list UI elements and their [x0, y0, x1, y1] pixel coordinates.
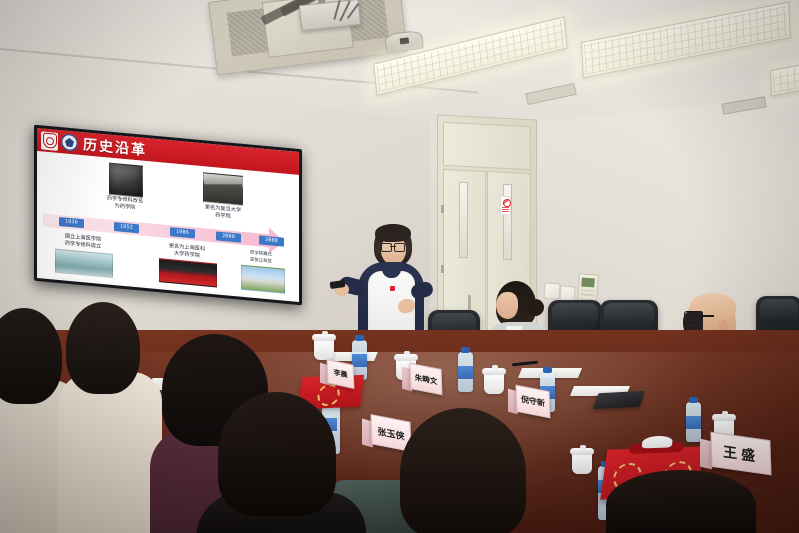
presenter-fringe	[375, 224, 411, 242]
attendee-hair	[606, 470, 756, 533]
door-transom	[443, 122, 531, 170]
milestone-photo	[241, 265, 285, 294]
door-hinge	[441, 205, 444, 213]
milestone-text: 更名为复旦大学 药学院	[187, 203, 259, 224]
glasses-icon	[684, 311, 714, 321]
attendee-body	[58, 372, 162, 533]
slide-body: 药学专修科改名 为药学院 更名为复旦大学 药学院 1936 1952 1986 …	[37, 151, 299, 299]
no-smoking-sign-icon	[500, 196, 511, 216]
attendee-hair-bun	[527, 299, 544, 316]
milestone-text: 药学专修科改名 为药学院	[89, 194, 161, 215]
milestone-photo	[203, 172, 243, 206]
mug[interactable]	[314, 338, 334, 360]
water-bottle[interactable]	[352, 340, 367, 380]
water-bottle[interactable]	[686, 402, 701, 442]
attendee-face	[496, 292, 518, 319]
conference-room-screenshot: 历史沿革 药学专修科改名 为药学院 更名为复旦大学 药学院 1936 1952 …	[0, 0, 799, 533]
attendee-hair	[66, 302, 140, 394]
tablet-device[interactable]	[593, 391, 646, 409]
door-hinge	[441, 265, 444, 273]
wall-mounted-tv[interactable]: 历史沿革 药学专修科改名 为药学院 更名为复旦大学 药学院 1936 1952 …	[34, 125, 302, 306]
glasses-icon	[381, 243, 405, 250]
mug[interactable]	[572, 452, 592, 474]
lapel-pin-icon	[390, 286, 395, 291]
dome-led	[400, 37, 410, 44]
thermostat-screen	[581, 278, 595, 288]
attendee-hair	[218, 392, 336, 516]
water-bottle[interactable]	[458, 352, 473, 392]
university-roundel-logo-icon	[61, 133, 78, 152]
tv-screen: 历史沿革 药学专修科改名 为药学院 更名为复旦大学 药学院 1936 1952 …	[37, 128, 299, 302]
milestone-photo	[109, 163, 143, 198]
light-switch[interactable]	[543, 282, 560, 299]
milestone-photo	[159, 258, 217, 287]
milestone-photo	[55, 249, 113, 278]
mug[interactable]	[484, 372, 504, 394]
attendee-hair	[400, 408, 526, 533]
door-glass-panel	[459, 182, 468, 258]
shield-crest-logo-icon	[41, 131, 58, 151]
